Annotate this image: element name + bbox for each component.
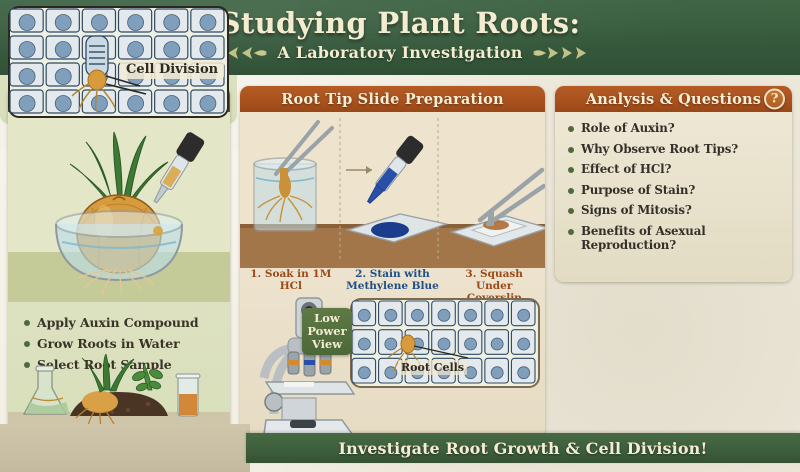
bullet-label: Grow Roots in Water [37, 336, 180, 351]
infographic-page: Studying Plant Roots: A Laboratory Inves… [0, 0, 800, 472]
list-item: Effect of HCl? [568, 162, 792, 176]
panel-right-header: Analysis & Questions ? [555, 86, 792, 112]
question-label: Purpose of Stain? [581, 183, 695, 197]
panel-cell-division: Cell Division [0, 0, 237, 124]
questions-list: Role of Auxin? Why Observe Root Tips? Ef… [555, 112, 792, 252]
bullet-dot-icon [568, 147, 574, 153]
bullet-dot-icon [568, 188, 574, 194]
slide-prep-illustration [240, 112, 545, 268]
onion-in-water-illustration [8, 112, 230, 302]
panel-rooting-with-auxin: Rooting with Auxin [8, 86, 230, 438]
bullet-dot-icon [24, 320, 30, 326]
question-label: Why Observe Root Tips? [581, 142, 738, 156]
list-item: Why Observe Root Tips? [568, 142, 792, 156]
bench-floor [0, 424, 250, 472]
bullet-dot-icon [568, 126, 574, 132]
bottom-banner: Investigate Root Growth & Cell Division! [246, 433, 800, 463]
bullet-dot-icon [568, 167, 574, 173]
list-item: Purpose of Stain? [568, 183, 792, 197]
question-label: Benefits of Asexual Reproduction? [581, 224, 792, 252]
low-power-view-label: LowPowerView [305, 312, 349, 351]
list-item: Apply Auxin Compound [24, 315, 230, 330]
step-2-label: 2. Stain withMethylene Blue [345, 268, 441, 292]
panel-mid-header: Root Tip Slide Preparation [240, 86, 545, 112]
list-item: Grow Roots in Water [24, 336, 230, 351]
root-cells-label: Root Cells [398, 360, 467, 375]
panel-root-tip-slide-preparation: Root Tip Slide Preparation [240, 86, 545, 438]
cell-division-label: Cell Division [120, 60, 224, 79]
list-item: Signs of Mitosis? [568, 203, 792, 217]
bullet-dot-icon [24, 341, 30, 347]
bullet-dot-icon [568, 229, 574, 235]
panel-analysis-questions: Analysis & Questions ? Role of Auxin? Wh… [555, 86, 792, 282]
panel-right-title: Analysis & Questions [586, 91, 761, 108]
question-label: Signs of Mitosis? [581, 203, 692, 217]
question-label: Role of Auxin? [581, 121, 674, 135]
page-subtitle: A Laboratory Investigation [277, 43, 522, 62]
list-item: Role of Auxin? [568, 121, 792, 135]
banner-label: Investigate Root Growth & Cell Division! [339, 439, 708, 458]
bullet-label: Apply Auxin Compound [37, 315, 198, 330]
question-label: Effect of HCl? [581, 162, 671, 176]
bullet-dot-icon [568, 208, 574, 214]
laurel-right-icon [532, 44, 588, 62]
panel-mid-title: Root Tip Slide Preparation [281, 91, 503, 108]
step-1-label: 1. Soak in 1M HCl [243, 268, 339, 292]
low-power-view-tag: LowPowerView [302, 308, 352, 355]
list-item: Benefits of Asexual Reproduction? [568, 224, 792, 252]
question-mark-badge-icon[interactable]: ? [764, 89, 785, 110]
